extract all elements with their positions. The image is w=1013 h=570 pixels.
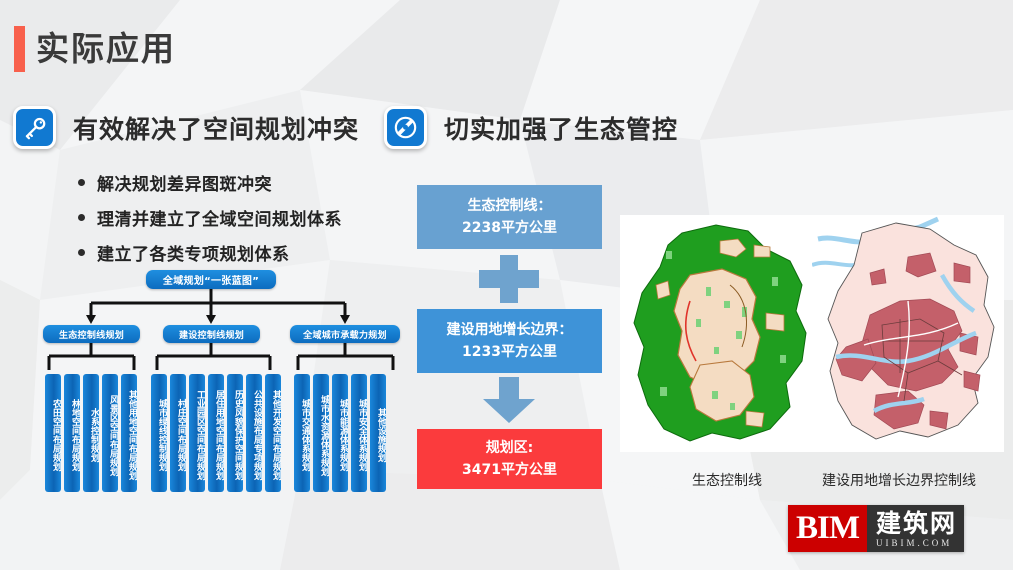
tree-level2-node: 生态控制线规划 [43, 325, 140, 343]
bullet-text: 建立了各类专项规划体系 [97, 240, 290, 265]
tree-root-node: 全域规划“一张蓝图” [146, 270, 276, 289]
bim-logo-dark-block: 建筑网 UIBIM.COM [867, 505, 964, 552]
org-chart: 全域规划“一张蓝图” 生态控制线规划 建设控制线规划 全域城市承载力规划 农田空… [18, 270, 413, 498]
tree-level2-node: 建设控制线规划 [163, 325, 260, 343]
list-item: 建立了各类专项规划体系 [78, 240, 342, 265]
tree-leaf-node: 工业园区空间布局规划 [189, 374, 205, 492]
key-icon [13, 106, 56, 149]
bim-logo-text: BIM [788, 505, 867, 552]
page-title: 实际应用 [36, 29, 176, 69]
tree-leaf-node: 水系控制规划 [83, 374, 99, 492]
map-caption-left: 生态控制线 [692, 470, 762, 490]
bullet-list: 解决规划差异图斑冲突 理清并建立了全域空间规划体系 建立了各类专项规划体系 [78, 170, 342, 275]
tree-leaf-node: 城市能源体系规划 [332, 374, 348, 492]
tree-leaf-node: 农田空间布局规划 [45, 374, 61, 492]
bullet-text: 解决规划差异图斑冲突 [97, 170, 272, 195]
tree-level2-node: 全域城市承载力规划 [290, 325, 400, 343]
flow-box-value: 1233平方公里 [462, 341, 557, 363]
flow-box-title: 建设用地增长边界： [447, 319, 573, 341]
list-item: 理清并建立了全域空间规划体系 [78, 205, 342, 230]
tree-leaf-node: 风景区空间布局规划 [102, 374, 118, 492]
tree-leaf-node: 其他开发空间布局规划 [265, 374, 281, 492]
bullet-dot-icon [78, 249, 85, 256]
flow-box-value: 3471平方公里 [462, 459, 557, 481]
list-item: 解决规划差异图斑冲突 [78, 170, 342, 195]
map-caption-right: 建设用地增长边界控制线 [822, 470, 976, 490]
bim-logo-cn: 建筑网 [876, 511, 957, 537]
tree-leaf-node: 其他设施规划 [370, 374, 386, 492]
flow-box-eco-control-line: 生态控制线： 2238平方公里 [417, 185, 602, 249]
tree-leaf-node: 城市水资源体系规划 [313, 374, 329, 492]
flow-box-planning-area: 规划区: 3471平方公里 [417, 429, 602, 489]
tree-leaf-node: 村庄空间布局规划 [170, 374, 186, 492]
flow-diagram: 生态控制线： 2238平方公里 建设用地增长边界： 1233平方公里 规划区: … [417, 185, 602, 485]
slide-canvas: 实际应用 有效解决了空间规划冲突 切实加 [0, 0, 1013, 570]
bim-watermark: BIM 建筑网 UIBIM.COM [788, 505, 964, 552]
section-heading-right: 切实加强了生态管控 [384, 106, 678, 149]
map-panel [620, 215, 1004, 452]
title-accent-bar [14, 26, 25, 72]
section-heading-left: 有效解决了空间规划冲突 [13, 106, 359, 149]
down-arrow-icon [483, 377, 535, 423]
tree-leaf-node: 城市安全体系规划 [351, 374, 367, 492]
flow-box-title: 生态控制线： [468, 195, 552, 217]
tree-leaf-node: 其他用地空间布局规划 [121, 374, 137, 492]
bullet-text: 理清并建立了全域空间规划体系 [97, 205, 342, 230]
bim-logo-url: UIBIM.COM [876, 537, 957, 549]
tree-leaf-node: 历史风貌保护空间规划 [227, 374, 243, 492]
tree-leaf-node: 林地空间布局规划 [64, 374, 80, 492]
flow-box-value: 2238平方公里 [462, 217, 557, 239]
plus-sign-icon [479, 255, 539, 303]
bullet-dot-icon [78, 214, 85, 221]
tree-leaf-node: 公共设施布局专项规划 [246, 374, 262, 492]
tree-leaf-node: 城市绿线控制规划 [151, 374, 167, 492]
section-label-right: 切实加强了生态管控 [444, 110, 678, 146]
tree-leaf-node: 居住用地空间布局规划 [208, 374, 224, 492]
eco-control-line-map [620, 215, 812, 452]
construction-boundary-map [812, 215, 1004, 452]
flow-box-title: 规划区: [486, 437, 534, 459]
flow-box-construction-boundary: 建设用地增长边界： 1233平方公里 [417, 309, 602, 373]
bullet-dot-icon [78, 179, 85, 186]
prohibition-icon [384, 106, 427, 149]
section-label-left: 有效解决了空间规划冲突 [73, 110, 359, 146]
tree-leaf-node: 城市交通体系规划 [294, 374, 310, 492]
